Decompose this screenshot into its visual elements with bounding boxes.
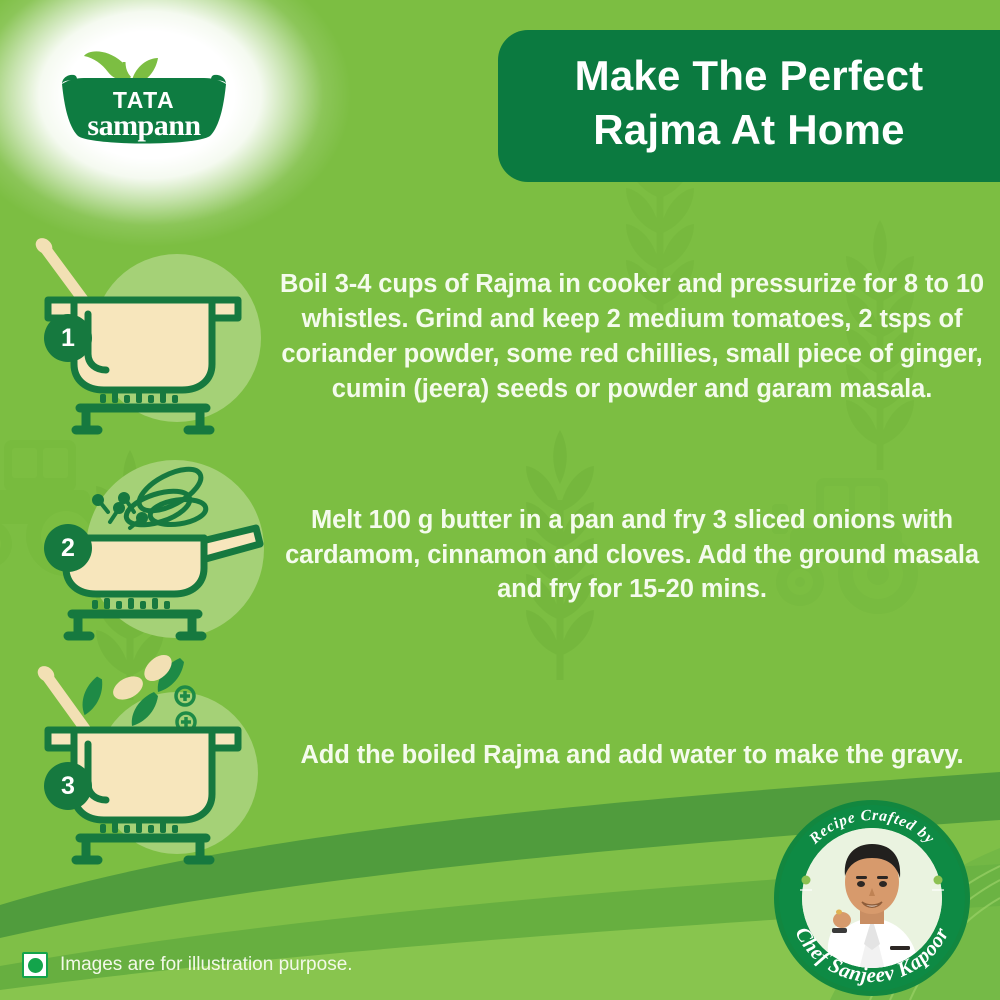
step-1-number: 1: [61, 326, 75, 351]
logo-text-sampann: sampann: [87, 109, 201, 142]
stove-flames-icon: [92, 598, 170, 609]
step-2-number: 2: [61, 536, 75, 561]
step-1-icon-zone: 1: [18, 232, 268, 442]
step-1-text: Boil 3-4 cups of Rajma in cooker and pre…: [270, 267, 994, 407]
onion-rings-icon: [122, 461, 207, 532]
cooking-pot-with-leaves-and-beans-icon: [18, 650, 268, 870]
stove-icon: [76, 838, 210, 860]
footer: Images are for illustration purpose.: [22, 952, 353, 978]
step-3-number-badge: 3: [44, 762, 92, 810]
stove-flames-icon: [100, 822, 178, 833]
step-3-number: 3: [61, 774, 75, 799]
recipe-infographic: TATA sampann Make The Perfect Rajma At H…: [0, 0, 1000, 1000]
page-title-line-1: Make The Perfect: [575, 49, 924, 103]
vegetarian-symbol: [22, 952, 48, 978]
step-2-text: Melt 100 g butter in a pan and fry 3 sli…: [270, 503, 994, 608]
step-1: 1: [18, 232, 994, 442]
page-title-line-2: Rajma At Home: [575, 103, 924, 157]
page-title: Make The Perfect Rajma At Home: [575, 49, 924, 157]
step-2-icon-zone: 2: [18, 450, 268, 660]
stove-icon: [76, 408, 210, 430]
step-3-icon-zone: 3: [18, 650, 268, 860]
chef-badge: Recipe Crafted by Chef Sanjeev Kapoor: [772, 798, 972, 998]
tata-sampann-logo: TATA sampann: [44, 30, 244, 150]
step-3-text: Add the boiled Rajma and add water to ma…: [270, 738, 994, 773]
header-banner: Make The Perfect Rajma At Home: [498, 30, 1000, 182]
vegetarian-dot: [28, 958, 43, 973]
disclaimer-text: Images are for illustration purpose.: [60, 954, 353, 976]
stove-flames-icon: [100, 392, 178, 403]
step-2-number-badge: 2: [44, 524, 92, 572]
stove-icon: [68, 614, 202, 636]
step-2: 2: [18, 450, 994, 660]
step-1-number-badge: 1: [44, 314, 92, 362]
